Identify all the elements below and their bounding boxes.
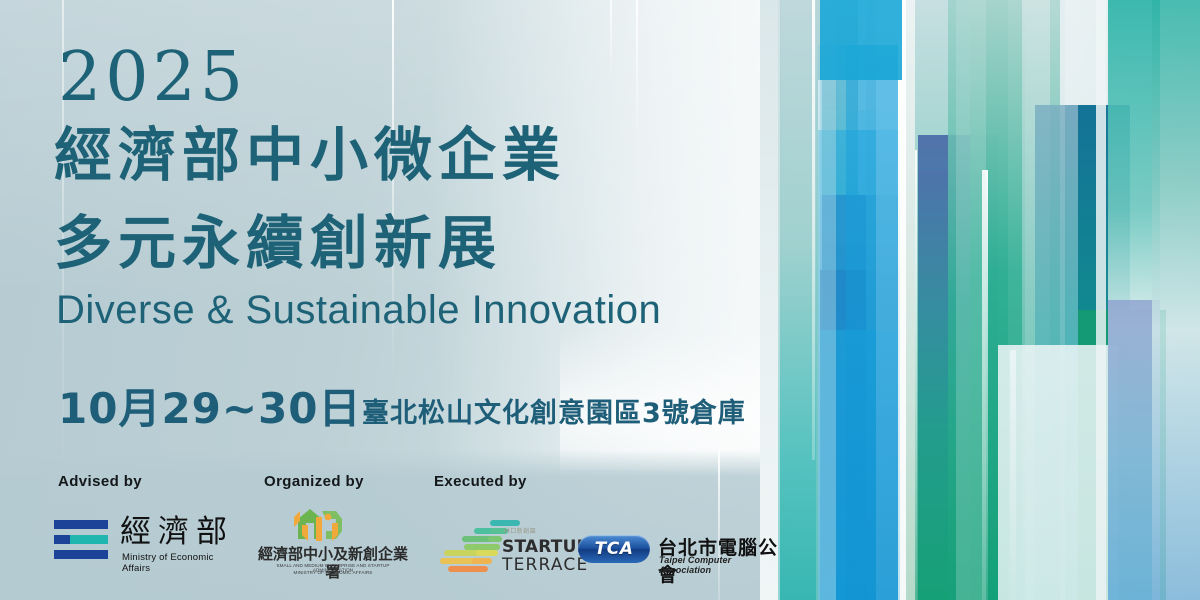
event-venue: 臺北松山文化創意園區3號倉庫 — [362, 398, 746, 430]
moea-logo-en: Ministry of Economic Affairs — [122, 552, 234, 574]
moea-logo: 經濟部 Ministry of Economic Affairs — [54, 516, 234, 568]
smea-hexagon-icon — [292, 505, 348, 545]
credit-label-organized: Organized by — [264, 473, 364, 490]
graphic-bar — [915, 150, 917, 600]
abstract-bar-graphic — [760, 0, 1200, 600]
startup-terrace-word2: TERRACE — [502, 556, 589, 574]
graphic-bar — [820, 0, 902, 80]
tca-badge-icon: TCA — [578, 535, 650, 563]
tca-abbr: TCA — [578, 539, 650, 559]
graphic-bar — [1152, 0, 1200, 600]
credit-label-executed: Executed by — [434, 473, 527, 490]
moea-logo-cn: 經濟部 — [120, 514, 234, 550]
smea-logo-en-line2: MINISTRY OF ECONOMIC AFFAIRS — [258, 570, 408, 575]
event-year: 2025 — [58, 44, 247, 112]
event-date: 10月29~30日 — [58, 386, 362, 432]
startup-terrace-word1: STARTUP — [502, 538, 589, 556]
event-title-line2: 多元永續創新展 — [54, 214, 502, 272]
moea-logo-mark-icon — [54, 520, 108, 560]
tca-logo: TCA 台北市電腦公會 Taipei Computer Association — [578, 533, 778, 573]
startup-terrace-tiny-cn: 林口新創園 — [504, 526, 536, 535]
startup-terrace-logo: 林口新創園 STARTUP TERRACE — [434, 520, 584, 576]
event-banner: 2025 經濟部中小微企業 多元永續創新展 Diverse & Sustaina… — [0, 0, 1200, 600]
event-title-line1: 經濟部中小微企業 — [54, 126, 566, 184]
credit-label-advised: Advised by — [58, 473, 142, 490]
graphic-bar — [846, 45, 898, 600]
graphic-bar — [812, 0, 815, 460]
banner-content: 2025 經濟部中小微企業 多元永續創新展 Diverse & Sustaina… — [0, 0, 780, 600]
startup-terrace-wordmark: STARTUP TERRACE — [502, 538, 589, 574]
graphic-bar — [1096, 0, 1106, 600]
event-subtitle-english: Diverse & Sustainable Innovation — [56, 288, 661, 332]
graphic-bar — [956, 0, 986, 600]
graphic-bar — [816, 0, 836, 600]
smea-logo: 經濟部中小及新創企業署 SMALL AND MEDIUM ENTERPRISE … — [258, 505, 408, 575]
tca-logo-en: Taipei Computer Association — [659, 555, 778, 575]
